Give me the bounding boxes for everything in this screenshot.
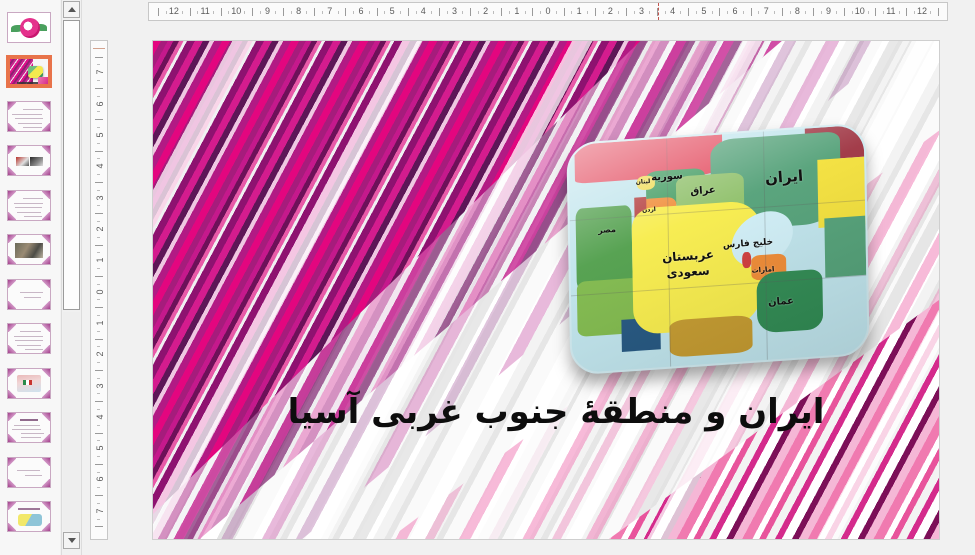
thumb-corner-decor xyxy=(8,146,16,154)
ruler-v-tick xyxy=(95,213,103,214)
thumb-corner-decor xyxy=(42,123,50,131)
thumbnail-preview xyxy=(8,458,50,487)
ruler-h-tick xyxy=(564,8,565,16)
thumb-corner-decor xyxy=(42,458,50,466)
ruler-v-label: 5 xyxy=(95,129,105,141)
ruler-h-tick xyxy=(532,8,533,16)
thumb-corner-decor xyxy=(8,413,16,421)
thumb-photo-a xyxy=(16,157,29,166)
ruler-h-minor-tick xyxy=(852,11,853,14)
slide-thumbnail-panel[interactable] xyxy=(0,0,60,555)
ruler-h-tick xyxy=(875,8,876,16)
ruler-h-minor-tick xyxy=(540,11,541,14)
slide-canvas[interactable]: ایرانعراقسوریهلبناناردنمصرعربستانسعودیخل… xyxy=(152,40,940,540)
thumbnail-preview xyxy=(8,146,50,175)
thumb-corner-decor xyxy=(42,235,50,243)
thumb-corner-decor xyxy=(8,345,16,353)
thumb-corner-decor xyxy=(8,523,16,531)
ruler-h-tick xyxy=(252,8,253,16)
thumbnail-slide-11[interactable] xyxy=(7,457,51,488)
ruler-h-minor-tick xyxy=(228,11,229,14)
ruler-h-minor-tick xyxy=(930,11,931,14)
ruler-h-minor-tick xyxy=(166,11,167,14)
ruler-v-label: 2 xyxy=(95,223,105,235)
ruler-h-minor-tick xyxy=(883,11,884,14)
map-region-pakistan xyxy=(824,216,866,278)
ruler-h-label: 3 xyxy=(639,5,644,18)
ruler-h-tick xyxy=(626,8,627,16)
thumbnail-slide-9[interactable] xyxy=(7,368,51,399)
ruler-h-minor-tick xyxy=(244,11,245,14)
thumb-corner-decor xyxy=(8,324,16,332)
ruler-h-minor-tick xyxy=(213,11,214,14)
map-country-label: ایران xyxy=(764,167,803,188)
scrollbar-track[interactable] xyxy=(63,312,80,531)
ruler-h-minor-tick xyxy=(556,11,557,14)
ruler-v-tick xyxy=(95,495,103,496)
thumbnail-slide-4[interactable] xyxy=(7,145,51,176)
ruler-v-minor-tick xyxy=(97,503,100,504)
thumbnail-scrollbar[interactable] xyxy=(61,0,82,555)
thumb-corner-decor xyxy=(42,369,50,377)
ruler-h-tick xyxy=(844,8,845,16)
ruler-h-minor-tick xyxy=(338,11,339,14)
ruler-h-tick xyxy=(221,8,222,16)
ruler-v-tick xyxy=(95,526,103,527)
scrollbar-thumb[interactable] xyxy=(63,20,80,310)
ruler-v-minor-tick xyxy=(97,456,100,457)
thumb-corner-decor xyxy=(42,390,50,398)
ruler-h-tick xyxy=(595,8,596,16)
vertical-ruler-indent-marker xyxy=(93,43,105,49)
thumb-corner-decor xyxy=(8,301,16,309)
ruler-v-label: 4 xyxy=(95,411,105,423)
ruler-h-tick xyxy=(688,8,689,16)
thumb-corner-decor xyxy=(42,102,50,110)
ruler-v-minor-tick xyxy=(97,268,100,269)
ruler-v-tick xyxy=(95,245,103,246)
ruler-h-label: 5 xyxy=(390,5,395,18)
thumb-corner-decor xyxy=(8,235,16,243)
ruler-h-tick xyxy=(158,8,159,16)
thumb-corner-decor xyxy=(42,502,50,510)
ruler-h-minor-tick xyxy=(509,11,510,14)
thumb-corner-decor xyxy=(8,280,16,288)
ruler-h-tick xyxy=(719,8,720,16)
thumb-corner-decor xyxy=(42,434,50,442)
ruler-h-tick xyxy=(470,8,471,16)
thumbnail-slide-8[interactable] xyxy=(7,323,51,354)
ruler-h-minor-tick xyxy=(680,11,681,14)
thumb-corner-decor xyxy=(42,324,50,332)
thumb-corner-decor xyxy=(8,369,16,377)
ruler-h-minor-tick xyxy=(571,11,572,14)
ruler-h-minor-tick xyxy=(868,11,869,14)
ruler-h-tick xyxy=(813,8,814,16)
ruler-h-minor-tick xyxy=(275,11,276,14)
ruler-h-label: 11 xyxy=(200,5,209,18)
ruler-h-minor-tick xyxy=(758,11,759,14)
thumb-corner-decor xyxy=(8,390,16,398)
ruler-h-minor-tick xyxy=(712,11,713,14)
ruler-h-label: 8 xyxy=(296,5,301,18)
thumbnail-preview xyxy=(8,102,50,131)
thumbnail-slide-10[interactable] xyxy=(7,412,51,443)
thumb-corner-decor xyxy=(42,256,50,264)
ruler-h-minor-tick xyxy=(400,11,401,14)
ruler-v-minor-tick xyxy=(97,158,100,159)
thumbnail-slide-3[interactable] xyxy=(7,101,51,132)
ruler-v-tick xyxy=(95,464,103,465)
ruler-h-cursor-marker xyxy=(658,3,659,20)
ruler-h-label: 0 xyxy=(545,5,550,18)
ruler-v-minor-tick xyxy=(97,299,100,300)
thumb-flower-icon xyxy=(20,18,40,38)
ruler-v-minor-tick xyxy=(97,519,100,520)
ruler-h-minor-tick xyxy=(197,11,198,14)
ruler-h-label: 7 xyxy=(764,5,769,18)
ruler-h-minor-tick xyxy=(447,11,448,14)
map-country-label: امارات xyxy=(751,265,774,275)
ruler-h-minor-tick xyxy=(899,11,900,14)
thumb-flag-icon xyxy=(23,380,32,385)
ruler-v-minor-tick xyxy=(97,284,100,285)
ruler-h-label: 2 xyxy=(483,5,488,18)
map-country-label: عمان xyxy=(768,296,795,309)
ruler-v-minor-tick xyxy=(97,127,100,128)
thumbnail-preview xyxy=(8,191,50,220)
ruler-v-tick xyxy=(95,339,103,340)
ruler-v-minor-tick xyxy=(97,64,100,65)
ruler-h-minor-tick xyxy=(743,11,744,14)
thumb-corner-decor xyxy=(42,413,50,421)
ruler-h-minor-tick xyxy=(696,11,697,14)
ruler-h-label: 8 xyxy=(795,5,800,18)
ruler-h-label: 1 xyxy=(514,5,519,18)
ruler-h-label: 7 xyxy=(327,5,332,18)
thumb-corner-decor xyxy=(42,479,50,487)
ruler-h-minor-tick xyxy=(805,11,806,14)
thumb-corner-decor xyxy=(8,167,16,175)
ruler-h-minor-tick xyxy=(618,11,619,14)
ruler-h-tick xyxy=(751,8,752,16)
ruler-v-minor-tick xyxy=(97,362,100,363)
ruler-h-minor-tick xyxy=(525,11,526,14)
ruler-h-tick xyxy=(377,8,378,16)
ruler-h-minor-tick xyxy=(727,11,728,14)
ruler-v-tick xyxy=(95,88,103,89)
ruler-v-label: 7 xyxy=(95,505,105,517)
slide-title-text[interactable]: ایران و منطقهٔ جنوب غربی آسیا xyxy=(213,391,899,434)
ruler-v-tick xyxy=(95,57,103,58)
ruler-v-minor-tick xyxy=(97,80,100,81)
thumbnail-slide-6[interactable] xyxy=(7,234,51,265)
thumb-pink-decor xyxy=(38,77,48,84)
ruler-v-label: 1 xyxy=(95,254,105,266)
map-region-qatar xyxy=(742,251,751,268)
ruler-h-label: 6 xyxy=(733,5,738,18)
ruler-v-tick xyxy=(95,433,103,434)
ruler-v-label: 5 xyxy=(95,442,105,454)
ruler-h-label: 11 xyxy=(886,5,895,18)
ruler-h-minor-tick xyxy=(384,11,385,14)
thumbnail-slide-12[interactable] xyxy=(7,501,51,532)
ruler-v-label: 0 xyxy=(95,286,105,298)
ruler-v-label: 4 xyxy=(95,160,105,172)
ruler-v-minor-tick xyxy=(97,487,100,488)
thumb-corner-decor xyxy=(8,102,16,110)
scroll-up-button[interactable] xyxy=(63,1,80,18)
ruler-h-minor-tick xyxy=(322,11,323,14)
map-country-label: اردن xyxy=(642,206,656,214)
ruler-h-minor-tick xyxy=(353,11,354,14)
ruler-h-label: 10 xyxy=(855,5,865,18)
map-plate xyxy=(566,122,869,375)
ruler-h-tick xyxy=(938,8,939,16)
ruler-h-label: 10 xyxy=(231,5,241,18)
ruler-v-label: 1 xyxy=(95,317,105,329)
thumbnail-preview xyxy=(8,502,50,531)
map-country-label: سوریه xyxy=(651,170,683,183)
thumbnail-slide-2[interactable] xyxy=(7,56,51,87)
ruler-v-minor-tick xyxy=(97,393,100,394)
thumbnail-preview xyxy=(8,13,50,42)
ruler-h-tick xyxy=(190,8,191,16)
ruler-h-tick xyxy=(283,8,284,16)
thumb-photo-wide xyxy=(15,243,43,258)
map-country-label: لبنان xyxy=(636,178,651,186)
vertical-ruler[interactable]: 765432101234567 xyxy=(90,40,108,540)
map-picture[interactable]: ایرانعراقسوریهلبناناردنمصرعربستانسعودیخل… xyxy=(568,133,868,365)
ruler-v-tick xyxy=(95,276,103,277)
thumb-corner-decor xyxy=(42,191,50,199)
ruler-h-label: 4 xyxy=(670,5,675,18)
thumbnail-preview xyxy=(8,235,50,264)
thumbnail-slide-5[interactable] xyxy=(7,190,51,221)
ruler-h-label: 9 xyxy=(826,5,831,18)
ruler-h-label: 6 xyxy=(358,5,363,18)
ruler-h-minor-tick xyxy=(914,11,915,14)
thumbnail-preview xyxy=(8,280,50,309)
thumb-corner-decor xyxy=(8,458,16,466)
chevron-up-icon xyxy=(68,7,76,12)
ruler-h-minor-tick xyxy=(821,11,822,14)
ruler-v-minor-tick xyxy=(97,346,100,347)
ruler-h-minor-tick xyxy=(603,11,604,14)
thumb-map-small xyxy=(18,514,42,526)
ruler-v-tick xyxy=(95,151,103,152)
thumbnail-preview xyxy=(10,59,48,84)
ruler-h-tick xyxy=(501,8,502,16)
ruler-v-minor-tick xyxy=(97,190,100,191)
ruler-h-minor-tick xyxy=(634,11,635,14)
ruler-h-label: 5 xyxy=(701,5,706,18)
ruler-h-tick xyxy=(439,8,440,16)
thumb-corner-decor xyxy=(42,212,50,220)
thumb-corner-decor xyxy=(8,502,16,510)
ruler-v-tick xyxy=(95,307,103,308)
ruler-v-minor-tick xyxy=(97,96,100,97)
ruler-v-minor-tick xyxy=(97,315,100,316)
thumb-corner-decor xyxy=(42,146,50,154)
ruler-h-minor-tick xyxy=(774,11,775,14)
ruler-h-minor-tick xyxy=(478,11,479,14)
thumb-corner-decor xyxy=(8,479,16,487)
thumb-corner-decor xyxy=(42,301,50,309)
ruler-h-minor-tick xyxy=(665,11,666,14)
ruler-v-minor-tick xyxy=(97,221,100,222)
ruler-v-minor-tick xyxy=(97,143,100,144)
thumb-corner-decor xyxy=(42,523,50,531)
ruler-h-minor-tick xyxy=(587,11,588,14)
ruler-h-minor-tick xyxy=(306,11,307,14)
thumb-photo-b xyxy=(30,157,43,166)
ruler-h-minor-tick xyxy=(182,11,183,14)
ruler-h-tick xyxy=(345,8,346,16)
ruler-v-minor-tick xyxy=(97,174,100,175)
ruler-v-minor-tick xyxy=(97,331,100,332)
thumb-corner-decor xyxy=(8,434,16,442)
ruler-v-minor-tick xyxy=(97,409,100,410)
thumb-corner-decor xyxy=(8,212,16,220)
thumbnail-preview xyxy=(8,413,50,442)
map-country-label: عراق xyxy=(690,185,716,198)
ruler-h-minor-tick xyxy=(416,11,417,14)
slide-workspace[interactable]: ایرانعراقسوریهلبناناردنمصرعربستانسعودیخل… xyxy=(112,24,975,555)
ruler-h-label: 12 xyxy=(917,5,927,18)
ruler-h-minor-tick xyxy=(369,11,370,14)
thumb-corner-decor xyxy=(8,123,16,131)
map-region-yemen xyxy=(669,315,752,357)
ruler-h-label: 2 xyxy=(608,5,613,18)
application-window: 1211109876543210123456789101112 76543210… xyxy=(0,0,975,555)
ruler-h-minor-tick xyxy=(836,11,837,14)
ruler-v-minor-tick xyxy=(97,237,100,238)
ruler-h-minor-tick xyxy=(493,11,494,14)
ruler-h-minor-tick xyxy=(462,11,463,14)
ruler-h-label: 3 xyxy=(452,5,457,18)
ruler-v-minor-tick xyxy=(97,440,100,441)
ruler-v-label: 7 xyxy=(95,66,105,78)
thumbnail-preview xyxy=(8,369,50,398)
ruler-v-tick xyxy=(95,401,103,402)
chevron-down-icon xyxy=(68,538,76,543)
ruler-h-label: 1 xyxy=(577,5,582,18)
ruler-h-tick xyxy=(906,8,907,16)
ruler-v-tick xyxy=(95,182,103,183)
scroll-down-button[interactable] xyxy=(63,532,80,549)
ruler-v-minor-tick xyxy=(97,425,100,426)
ruler-h-tick xyxy=(408,8,409,16)
ruler-h-label: 4 xyxy=(421,5,426,18)
ruler-h-tick xyxy=(314,8,315,16)
ruler-v-tick xyxy=(95,119,103,120)
ruler-v-minor-tick xyxy=(97,252,100,253)
ruler-v-label: 6 xyxy=(95,98,105,110)
horizontal-ruler[interactable]: 1211109876543210123456789101112 xyxy=(148,2,948,21)
ruler-h-minor-tick xyxy=(431,11,432,14)
ruler-v-label: 2 xyxy=(95,348,105,360)
ruler-v-minor-tick xyxy=(97,378,100,379)
ruler-h-minor-tick xyxy=(649,11,650,14)
ruler-h-tick xyxy=(782,8,783,16)
ruler-v-minor-tick xyxy=(97,472,100,473)
ruler-h-label: 9 xyxy=(265,5,270,18)
thumbnail-slide-1[interactable] xyxy=(7,12,51,43)
thumb-corner-decor xyxy=(42,167,50,175)
thumb-corner-decor xyxy=(8,191,16,199)
ruler-v-minor-tick xyxy=(97,111,100,112)
thumb-heading-line xyxy=(20,419,38,421)
ruler-v-label: 6 xyxy=(95,473,105,485)
ruler-h-label: 12 xyxy=(169,5,179,18)
ruler-v-label: 3 xyxy=(95,380,105,392)
ruler-v-label: 3 xyxy=(95,192,105,204)
thumbnail-slide-7[interactable] xyxy=(7,279,51,310)
ruler-h-minor-tick xyxy=(790,11,791,14)
ruler-h-minor-tick xyxy=(260,11,261,14)
ruler-h-minor-tick xyxy=(291,11,292,14)
thumb-title-line xyxy=(18,508,40,510)
ruler-v-tick xyxy=(95,370,103,371)
thumb-corner-decor xyxy=(42,280,50,288)
ruler-v-minor-tick xyxy=(97,205,100,206)
thumbnail-preview xyxy=(8,324,50,353)
map-country-label: مصر xyxy=(598,225,616,235)
